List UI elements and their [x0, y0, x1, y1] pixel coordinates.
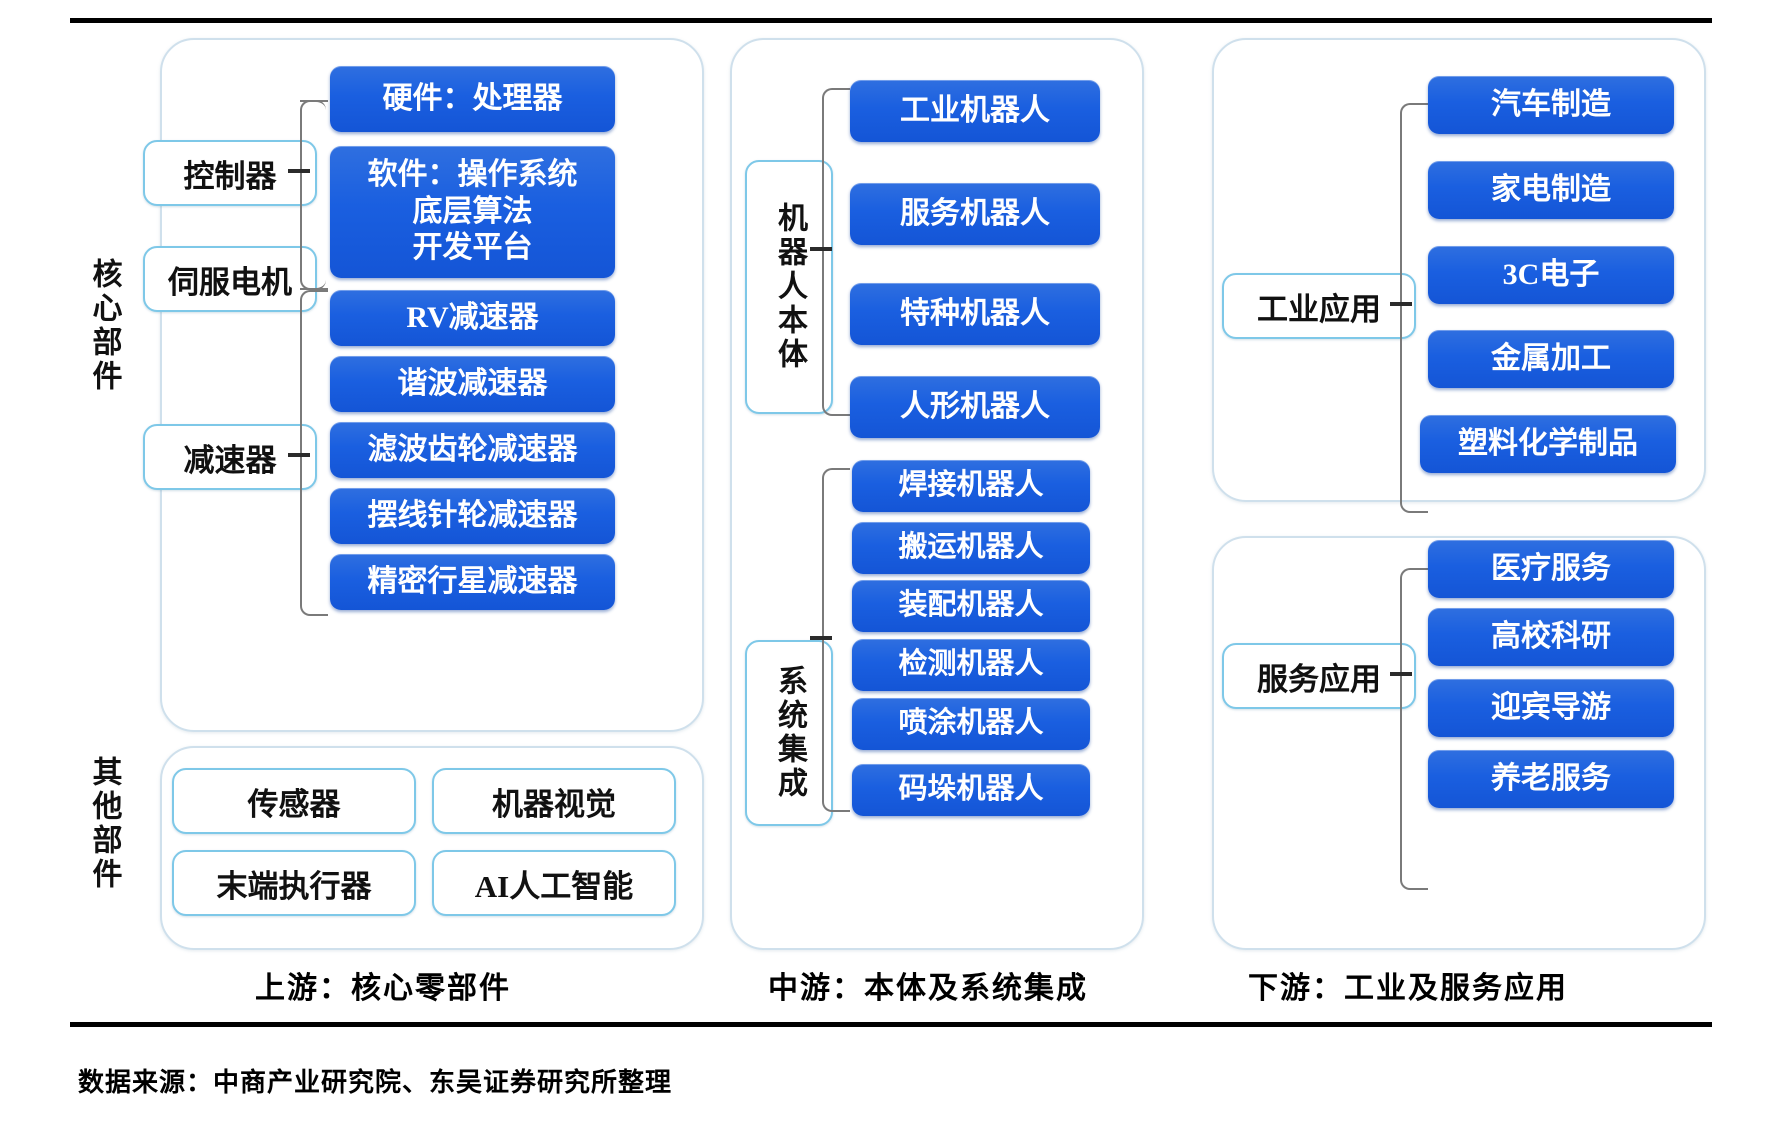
- leaf-handling-robot[interactable]: 搬运机器人: [852, 522, 1090, 574]
- leaf-auto-manufacturing[interactable]: 汽车制造: [1428, 76, 1674, 134]
- bottom-rule: [70, 1022, 1712, 1027]
- node-industrial-application[interactable]: 工业应用: [1222, 273, 1416, 339]
- node-ai[interactable]: AI人工智能: [432, 850, 676, 916]
- leaf-reducer-planetary[interactable]: 精密行星减速器: [330, 554, 615, 610]
- leaf-metal-processing[interactable]: 金属加工: [1428, 330, 1674, 388]
- node-sensor[interactable]: 传感器: [172, 768, 416, 834]
- leaf-welding-robot[interactable]: 焊接机器人: [852, 460, 1090, 512]
- node-service-application[interactable]: 服务应用: [1222, 643, 1416, 709]
- node-machine-vision[interactable]: 机器视觉: [432, 768, 676, 834]
- leaf-palletizing-robot[interactable]: 码垛机器人: [852, 764, 1090, 816]
- leaf-reducer-rv[interactable]: RV减速器: [330, 290, 615, 346]
- connector-industrial-stub: [1390, 302, 1412, 306]
- software-line-3: 开发平台: [413, 230, 533, 267]
- software-line-1: 软件：操作系统: [368, 157, 578, 194]
- side-label-core-components: 核心部件: [88, 258, 120, 394]
- node-servo-motor[interactable]: 伺服电机: [143, 246, 317, 312]
- node-controller[interactable]: 控制器: [143, 140, 317, 206]
- caption-downstream: 下游：工业及服务应用: [1248, 963, 1568, 1007]
- leaf-elderly-care[interactable]: 养老服务: [1428, 750, 1674, 808]
- side-label-other-components: 其他部件: [88, 756, 120, 892]
- leaf-hardware-processor[interactable]: 硬件：处理器: [330, 66, 615, 132]
- node-end-effector[interactable]: 末端执行器: [172, 850, 416, 916]
- connector-controller-stub: [288, 169, 310, 173]
- leaf-appliance-manufacturing[interactable]: 家电制造: [1428, 161, 1674, 219]
- leaf-humanoid-robot[interactable]: 人形机器人: [850, 376, 1100, 438]
- connector-reducer-stub: [288, 453, 310, 457]
- leaf-university-research[interactable]: 高校科研: [1428, 608, 1674, 666]
- connector-service-stub: [1390, 672, 1412, 676]
- leaf-plastic-chemical[interactable]: 塑料化学制品: [1420, 415, 1676, 473]
- group-service-application: [1212, 536, 1706, 950]
- leaf-assembly-robot[interactable]: 装配机器人: [852, 580, 1090, 632]
- leaf-software-stack[interactable]: 软件：操作系统 底层算法 开发平台: [330, 146, 615, 278]
- bracket-system-integration: [822, 468, 850, 812]
- leaf-painting-robot[interactable]: 喷涂机器人: [852, 698, 1090, 750]
- leaf-service-robot[interactable]: 服务机器人: [850, 183, 1100, 245]
- bracket-controller-outline: [300, 100, 328, 290]
- bracket-robot-body: [822, 88, 850, 416]
- node-reducer[interactable]: 减速器: [143, 424, 317, 490]
- leaf-reception-guide[interactable]: 迎宾导游: [1428, 679, 1674, 737]
- leaf-medical-service[interactable]: 医疗服务: [1428, 540, 1674, 598]
- software-line-2: 底层算法: [413, 194, 533, 231]
- leaf-reducer-filter-gear[interactable]: 滤波齿轮减速器: [330, 422, 615, 478]
- leaf-3c-electronics[interactable]: 3C电子: [1428, 246, 1674, 304]
- bracket-service: [1400, 568, 1428, 890]
- node-system-integration[interactable]: 系统集成: [745, 640, 833, 826]
- leaf-inspection-robot[interactable]: 检测机器人: [852, 639, 1090, 691]
- leaf-reducer-cycloidal[interactable]: 摆线针轮减速器: [330, 488, 615, 544]
- leaf-industrial-robot[interactable]: 工业机器人: [850, 80, 1100, 142]
- leaf-reducer-harmonic[interactable]: 谐波减速器: [330, 356, 615, 412]
- connector-robot-body-stub: [810, 247, 832, 251]
- connector-system-integration-stub: [810, 636, 832, 640]
- top-rule: [70, 18, 1712, 23]
- leaf-special-robot[interactable]: 特种机器人: [850, 283, 1100, 345]
- caption-midstream: 中游：本体及系统集成: [768, 963, 1088, 1007]
- source-note: 数据来源：中商产业研究院、东吴证券研究所整理: [78, 1062, 672, 1099]
- node-robot-body[interactable]: 机器人本体: [745, 160, 833, 414]
- caption-upstream: 上游：核心零部件: [255, 963, 511, 1007]
- diagram-canvas: 核心部件 控制器 伺服电机 减速器 硬件：处理器 软件：操作系统 底层算法 开发…: [0, 28, 1772, 1018]
